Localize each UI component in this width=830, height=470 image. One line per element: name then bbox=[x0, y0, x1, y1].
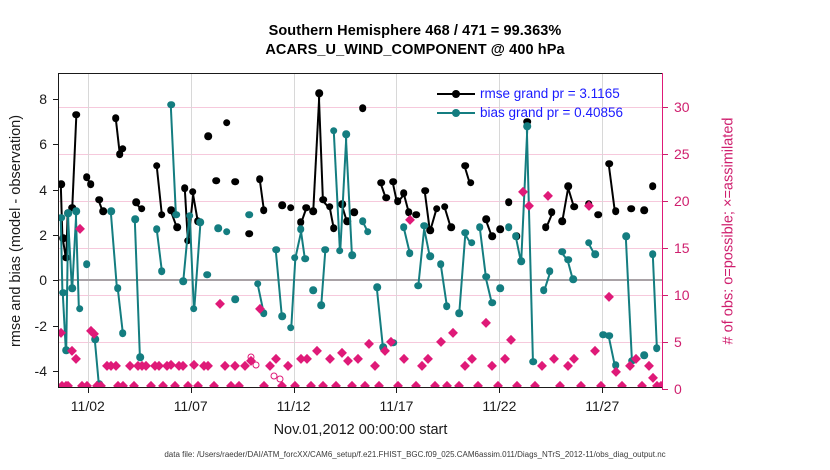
chart-legend: rmse grand pr = 3.1165bias grand pr = 0.… bbox=[437, 84, 662, 122]
data-point bbox=[287, 204, 295, 212]
data-point bbox=[400, 223, 408, 231]
data-point bbox=[297, 225, 305, 233]
data-point bbox=[351, 208, 359, 216]
obs-marker-possible bbox=[252, 361, 259, 368]
y-tick-label-left: -2 bbox=[35, 318, 47, 334]
y-axis-title-right-text: # of obs: o=possible; ×=assimilated bbox=[720, 117, 736, 344]
data-point bbox=[73, 111, 81, 119]
data-point bbox=[649, 250, 657, 258]
data-point bbox=[443, 302, 451, 310]
data-line-segment bbox=[376, 288, 384, 348]
legend-marker-icon bbox=[452, 109, 460, 117]
data-point bbox=[291, 254, 299, 262]
obs-marker-assimilated bbox=[436, 337, 446, 347]
y-tick-left bbox=[53, 144, 59, 145]
x-tick-label: 11/12 bbox=[277, 398, 311, 414]
obs-marker-assimilated bbox=[353, 354, 363, 364]
data-point bbox=[320, 196, 328, 204]
data-point bbox=[421, 187, 429, 195]
data-point bbox=[180, 278, 188, 286]
y-tick-label-right: 0 bbox=[674, 381, 682, 397]
y-tick-label-left: 0 bbox=[39, 272, 47, 288]
obs-marker-assimilated bbox=[481, 318, 491, 328]
obs-marker-assimilated bbox=[283, 361, 293, 371]
data-point bbox=[190, 305, 198, 313]
data-point bbox=[256, 176, 264, 184]
gridline-horizontal bbox=[59, 342, 662, 343]
data-point bbox=[476, 223, 484, 231]
data-line-segment bbox=[156, 166, 163, 215]
legend-label: rmse grand pr = 3.1165 bbox=[480, 84, 620, 103]
y-tick-left bbox=[53, 371, 59, 372]
data-point bbox=[394, 197, 402, 205]
data-point bbox=[462, 162, 470, 170]
data-line-segment bbox=[479, 228, 487, 278]
y-tick-label-right: 10 bbox=[674, 287, 690, 303]
data-point bbox=[246, 211, 254, 219]
data-point bbox=[412, 211, 420, 219]
data-point bbox=[488, 232, 496, 240]
data-point bbox=[119, 330, 127, 338]
data-point bbox=[153, 225, 161, 233]
x-tick bbox=[191, 387, 192, 393]
data-point bbox=[158, 267, 166, 275]
data-line-segment bbox=[193, 223, 201, 309]
data-point bbox=[203, 271, 211, 279]
data-line-segment bbox=[72, 116, 78, 209]
data-point bbox=[497, 225, 505, 233]
data-point bbox=[382, 194, 390, 202]
data-line-segment bbox=[156, 230, 163, 272]
data-point bbox=[64, 210, 72, 218]
x-tick-label: 11/02 bbox=[71, 398, 105, 414]
obs-marker-assimilated bbox=[549, 354, 559, 364]
right-axis-spine bbox=[662, 73, 663, 390]
obs-marker-assimilated bbox=[499, 354, 509, 364]
footer-datafile: data file: /Users/raeder/DAI/ATM_forcXX/… bbox=[0, 450, 830, 459]
data-point bbox=[278, 313, 286, 321]
x-tick-label: 11/27 bbox=[585, 398, 619, 414]
legend-key-rmse bbox=[437, 89, 475, 99]
data-point bbox=[359, 104, 367, 112]
data-point bbox=[167, 101, 175, 109]
data-point bbox=[204, 133, 212, 141]
data-point bbox=[158, 211, 166, 219]
x-tick bbox=[88, 387, 89, 393]
obs-marker-assimilated bbox=[429, 381, 439, 387]
data-point bbox=[114, 284, 122, 292]
y-tick-left bbox=[53, 235, 59, 236]
data-point bbox=[330, 127, 338, 135]
title-line-2: ACARS_U_WIND_COMPONENT @ 400 hPa bbox=[0, 41, 830, 60]
gridline-vertical bbox=[88, 74, 89, 387]
obs-marker-assimilated bbox=[590, 346, 600, 356]
obs-marker-possible bbox=[277, 375, 284, 382]
data-point bbox=[359, 218, 367, 226]
data-point bbox=[99, 207, 107, 215]
data-point bbox=[558, 248, 566, 256]
data-point bbox=[570, 275, 578, 283]
data-point bbox=[326, 203, 334, 211]
obs-marker-assimilated bbox=[524, 201, 534, 211]
data-point bbox=[377, 179, 385, 187]
obs-marker-assimilated bbox=[71, 354, 81, 364]
y-tick-left bbox=[53, 326, 59, 327]
data-point bbox=[278, 202, 286, 210]
obs-marker-assimilated bbox=[325, 354, 335, 364]
obs-marker-assimilated bbox=[569, 354, 579, 364]
data-point bbox=[612, 207, 620, 215]
obs-marker-assimilated bbox=[265, 361, 275, 371]
y-tick-label-left: 8 bbox=[39, 91, 47, 107]
data-point bbox=[482, 215, 490, 223]
data-point bbox=[223, 228, 231, 236]
y-tick-label-left: 6 bbox=[39, 136, 47, 152]
data-point bbox=[558, 218, 566, 226]
data-point bbox=[364, 228, 372, 236]
data-point bbox=[342, 130, 350, 138]
data-point bbox=[138, 205, 146, 213]
obs-marker-assimilated bbox=[454, 381, 464, 387]
data-point bbox=[542, 223, 550, 231]
obs-marker-assimilated bbox=[364, 339, 374, 349]
y-tick-left bbox=[53, 99, 59, 100]
obs-marker-assimilated bbox=[611, 367, 621, 377]
data-point bbox=[548, 208, 556, 216]
x-tick-label: 11/17 bbox=[379, 398, 413, 414]
obs-marker-assimilated bbox=[380, 346, 390, 356]
data-point bbox=[606, 332, 614, 340]
data-point bbox=[95, 196, 103, 204]
data-point bbox=[406, 249, 414, 257]
data-point bbox=[433, 205, 441, 213]
obs-marker-assimilated bbox=[370, 361, 380, 371]
data-point bbox=[348, 251, 356, 259]
obs-marker-assimilated bbox=[493, 381, 503, 387]
obs-marker-assimilated bbox=[417, 361, 427, 371]
data-point bbox=[336, 247, 344, 255]
y-tick-label-left: -4 bbox=[35, 363, 47, 379]
obs-marker-assimilated bbox=[220, 361, 230, 371]
legend-key-bias bbox=[437, 108, 475, 118]
data-point bbox=[309, 207, 317, 215]
data-line-segment bbox=[94, 340, 100, 385]
data-line-segment bbox=[440, 265, 448, 307]
data-line-segment bbox=[134, 220, 141, 358]
gridline-horizontal bbox=[59, 248, 662, 249]
obs-marker-assimilated bbox=[306, 381, 316, 387]
data-point bbox=[189, 188, 197, 196]
data-line-segment bbox=[319, 94, 325, 201]
data-point bbox=[254, 280, 262, 288]
data-line-segment bbox=[170, 105, 177, 215]
data-point bbox=[322, 246, 330, 254]
data-point bbox=[287, 324, 295, 332]
data-point bbox=[414, 282, 422, 290]
obs-marker-assimilated bbox=[530, 381, 540, 387]
data-point bbox=[420, 222, 428, 230]
obs-marker-assimilated bbox=[543, 191, 553, 201]
legend-item-rmse[interactable]: rmse grand pr = 3.1165 bbox=[437, 84, 662, 103]
data-point bbox=[505, 223, 513, 231]
data-point bbox=[260, 206, 268, 214]
x-tick bbox=[396, 387, 397, 393]
data-line-segment bbox=[526, 127, 534, 363]
data-point bbox=[153, 162, 161, 170]
obs-marker-assimilated bbox=[423, 354, 433, 364]
data-point bbox=[172, 211, 180, 219]
data-point bbox=[59, 289, 67, 297]
legend-label: bias grand pr = 0.40856 bbox=[480, 103, 623, 122]
y-tick-label-left: 4 bbox=[39, 182, 47, 198]
y-axis-title-left-text: rmse and bias (model - observation) bbox=[8, 114, 24, 346]
data-point bbox=[585, 239, 593, 247]
y-tick-label-right: 20 bbox=[674, 193, 690, 209]
data-point bbox=[108, 207, 116, 215]
data-point bbox=[181, 185, 189, 193]
obs-marker-assimilated bbox=[312, 346, 322, 356]
data-point bbox=[69, 284, 77, 292]
data-point bbox=[196, 219, 204, 227]
obs-marker-assimilated bbox=[399, 354, 409, 364]
title-line-1: Southern Hemisphere 468 / 471 = 99.363% bbox=[0, 22, 830, 41]
data-point bbox=[316, 89, 324, 97]
data-line-segment bbox=[609, 164, 617, 212]
data-point bbox=[59, 180, 65, 188]
obs-marker-assimilated bbox=[466, 354, 476, 364]
x-tick bbox=[602, 387, 603, 393]
y-axis-title-right: # of obs: o=possible; ×=assimilated bbox=[718, 73, 738, 388]
data-point bbox=[441, 203, 449, 211]
y-tick-label-right: 25 bbox=[674, 146, 690, 162]
obs-marker-assimilated bbox=[145, 381, 155, 387]
chart-title: Southern Hemisphere 468 / 471 = 99.363% … bbox=[0, 22, 830, 60]
data-point bbox=[622, 232, 630, 240]
obs-marker-assimilated bbox=[617, 381, 627, 387]
data-point bbox=[87, 180, 95, 188]
data-point bbox=[606, 160, 614, 168]
obs-marker-assimilated bbox=[604, 292, 614, 302]
data-point bbox=[373, 283, 381, 291]
data-point bbox=[400, 189, 408, 197]
obs-marker-assimilated bbox=[234, 381, 244, 387]
obs-marker-assimilated bbox=[460, 361, 470, 371]
data-point bbox=[627, 205, 635, 213]
data-point bbox=[565, 256, 573, 264]
data-point bbox=[272, 246, 280, 254]
data-point bbox=[641, 206, 649, 214]
x-tick bbox=[499, 387, 500, 393]
data-point bbox=[119, 145, 127, 153]
data-point bbox=[437, 261, 445, 269]
data-line-segment bbox=[458, 233, 466, 314]
data-point bbox=[482, 273, 490, 281]
x-tick bbox=[294, 387, 295, 393]
data-point bbox=[223, 119, 231, 127]
data-point bbox=[594, 211, 602, 219]
obs-marker-assimilated bbox=[411, 381, 421, 387]
obs-marker-assimilated bbox=[331, 381, 341, 387]
obs-marker-assimilated bbox=[214, 299, 224, 309]
data-point bbox=[462, 229, 470, 237]
obs-marker-assimilated bbox=[129, 381, 139, 387]
obs-marker-assimilated bbox=[359, 381, 369, 387]
obs-marker-assimilated bbox=[643, 361, 653, 371]
data-point bbox=[73, 207, 81, 215]
obs-marker-assimilated bbox=[318, 381, 328, 387]
data-point bbox=[215, 224, 223, 232]
obs-marker-assimilated bbox=[374, 381, 384, 387]
obs-marker-assimilated bbox=[448, 327, 458, 337]
gridline-vertical bbox=[294, 74, 295, 387]
obs-marker-assimilated bbox=[158, 381, 168, 387]
data-point bbox=[455, 309, 463, 317]
obs-marker-assimilated bbox=[555, 381, 565, 387]
obs-marker-assimilated bbox=[290, 381, 300, 387]
data-point bbox=[447, 223, 455, 231]
y-tick-label-right: 30 bbox=[674, 99, 690, 115]
obs-marker-assimilated bbox=[392, 381, 402, 387]
gridline-horizontal bbox=[59, 154, 662, 155]
data-point bbox=[512, 232, 520, 240]
legend-item-bias[interactable]: bias grand pr = 0.40856 bbox=[437, 103, 662, 122]
data-point bbox=[76, 305, 84, 313]
obs-marker-assimilated bbox=[193, 381, 203, 387]
data-point bbox=[246, 230, 254, 238]
data-point bbox=[497, 284, 505, 292]
data-point bbox=[649, 182, 657, 190]
obs-marker-assimilated bbox=[343, 356, 353, 366]
y-tick-left bbox=[53, 190, 59, 191]
x-tick-label: 11/07 bbox=[174, 398, 208, 414]
obs-marker-assimilated bbox=[209, 381, 219, 387]
data-point bbox=[309, 287, 317, 295]
y-tick-left bbox=[53, 280, 59, 281]
data-point bbox=[530, 358, 538, 366]
data-line-segment bbox=[652, 255, 658, 349]
data-point bbox=[112, 114, 120, 122]
data-point bbox=[523, 122, 531, 130]
data-point bbox=[540, 287, 548, 295]
data-point bbox=[330, 224, 338, 232]
data-point bbox=[641, 351, 649, 359]
data-point bbox=[467, 179, 475, 187]
y-tick-label-right: 15 bbox=[674, 240, 690, 256]
obs-marker-assimilated bbox=[512, 381, 522, 387]
data-line-segment bbox=[275, 250, 283, 317]
obs-marker-assimilated bbox=[170, 381, 180, 387]
data-line-segment bbox=[417, 227, 425, 287]
data-point bbox=[318, 301, 326, 309]
legend-marker-icon bbox=[452, 90, 460, 98]
obs-marker-assimilated bbox=[487, 361, 497, 371]
data-point bbox=[468, 239, 476, 247]
obs-marker-assimilated bbox=[637, 381, 647, 387]
data-point bbox=[427, 253, 435, 261]
gridline-horizontal bbox=[59, 295, 662, 296]
data-point bbox=[565, 182, 573, 190]
data-point bbox=[301, 255, 309, 263]
obs-marker-possible bbox=[248, 354, 255, 361]
obs-marker-assimilated bbox=[442, 381, 452, 387]
data-point bbox=[488, 299, 496, 307]
y-tick-label-right: 5 bbox=[674, 334, 682, 350]
obs-marker-assimilated bbox=[596, 381, 606, 387]
data-point bbox=[186, 212, 194, 220]
x-axis-caption: Nov.01,2012 00:00:00 start bbox=[58, 422, 663, 438]
obs-marker-assimilated bbox=[230, 361, 240, 371]
data-point bbox=[653, 344, 661, 352]
data-point bbox=[83, 261, 91, 269]
data-line-segment bbox=[111, 212, 119, 289]
obs-marker-assimilated bbox=[536, 361, 546, 371]
data-point bbox=[517, 257, 525, 265]
x-tick-label: 11/22 bbox=[482, 398, 516, 414]
data-point bbox=[591, 250, 599, 258]
obs-marker-assimilated bbox=[259, 381, 269, 387]
data-point bbox=[505, 198, 513, 206]
obs-marker-assimilated bbox=[473, 381, 483, 387]
y-tick-label-left: 2 bbox=[39, 227, 47, 243]
data-point bbox=[546, 267, 554, 275]
data-point bbox=[231, 178, 239, 186]
obs-marker-assimilated bbox=[347, 381, 357, 387]
data-point bbox=[131, 215, 139, 223]
data-point bbox=[213, 177, 221, 185]
data-line-segment bbox=[321, 250, 327, 306]
obs-marker-assimilated bbox=[576, 381, 586, 387]
data-point bbox=[174, 223, 182, 231]
obs-marker-assimilated bbox=[506, 335, 516, 345]
data-point bbox=[390, 178, 398, 186]
data-point bbox=[571, 203, 579, 211]
y-axis-title-left: rmse and bias (model - observation) bbox=[6, 73, 26, 388]
obs-marker-assimilated bbox=[518, 186, 528, 196]
data-point bbox=[231, 296, 239, 304]
